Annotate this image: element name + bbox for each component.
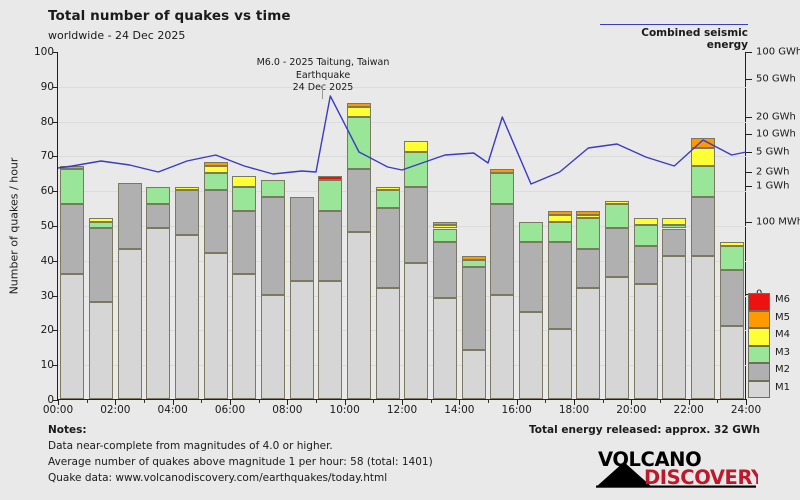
y-axis-tick-label: 50	[41, 220, 54, 232]
x-axis-tick	[316, 399, 317, 403]
y-axis-tick-label: 30	[41, 290, 54, 302]
legend-swatch	[748, 328, 770, 346]
quake-chart: Total number of quakes vs time worldwide…	[0, 0, 800, 500]
x-axis-tick-label: 04:00	[158, 404, 188, 416]
y-axis-tick-label: 20	[41, 324, 54, 336]
logo-text-discovery: DISCOVERY	[644, 466, 758, 489]
legend-swatch	[748, 346, 770, 364]
x-axis-tick-label: 14:00	[444, 404, 474, 416]
right-axis-tick-mark	[746, 186, 752, 187]
legend-label: M5	[775, 312, 790, 323]
right-axis-tick-mark	[746, 52, 752, 53]
legend-item-m2[interactable]: M2	[748, 362, 798, 380]
right-axis-tick-label: 50 GWh	[756, 74, 796, 85]
annotation-pointer-line	[322, 85, 323, 99]
x-axis-tick	[603, 399, 604, 403]
right-axis-tick-mark	[746, 152, 752, 153]
note-average-quakes: Average number of quakes above magnitude…	[48, 456, 433, 468]
x-axis-tick-label: 24:00	[731, 404, 761, 416]
y-axis-tick-label: 80	[41, 116, 54, 128]
legend-item-m5[interactable]: M5	[748, 310, 798, 328]
x-axis-tick	[488, 399, 489, 403]
legend-swatch	[748, 293, 770, 311]
chart-subtitle: worldwide - 24 Dec 2025	[48, 29, 185, 42]
right-axis-tick-mark	[746, 172, 752, 173]
x-axis-tick-label: 10:00	[330, 404, 360, 416]
y-axis-tick-label: 40	[41, 255, 54, 267]
y-axis-label: Number of quakes / hour	[8, 158, 21, 295]
legend-label: M6	[775, 294, 790, 305]
x-axis-tick	[201, 399, 202, 403]
y-axis-tick-label: 90	[41, 81, 54, 93]
legend-item-m6[interactable]: M6	[748, 292, 798, 310]
right-axis-tick-label: 2 GWh	[756, 167, 790, 178]
right-axis-tick-mark	[746, 222, 752, 223]
right-axis-tick-mark	[746, 79, 752, 80]
notes-heading: Notes:	[48, 424, 87, 436]
y-axis-tick-label: 10	[41, 359, 54, 371]
page-title: Total number of quakes vs time	[48, 8, 291, 24]
energy-legend-line-sample	[600, 24, 748, 25]
legend-swatch	[748, 363, 770, 381]
x-axis-tick	[373, 399, 374, 403]
right-axis-tick-label: 10 GWh	[756, 129, 796, 140]
legend-item-m3[interactable]: M3	[748, 345, 798, 363]
note-data-source: Quake data: www.volcanodiscovery.com/ear…	[48, 472, 387, 484]
energy-line-chart	[58, 52, 746, 400]
magnitude-legend: M6M5M4M3M2M1	[748, 292, 798, 397]
x-axis-tick	[431, 399, 432, 403]
x-axis-tick-label: 20:00	[616, 404, 646, 416]
x-axis-tick	[717, 399, 718, 403]
right-axis-tick-label: 100 MWh	[756, 217, 800, 228]
x-axis-tick-label: 16:00	[502, 404, 532, 416]
x-axis-tick-label: 18:00	[559, 404, 589, 416]
x-axis-tick	[660, 399, 661, 403]
earthquake-annotation: M6.0 - 2025 Taitung, Taiwan Earthquake 2…	[228, 57, 418, 95]
annotation-line-1: M6.0 - 2025 Taitung, Taiwan Earthquake	[228, 57, 418, 82]
x-axis-tick	[87, 399, 88, 403]
legend-item-m4[interactable]: M4	[748, 327, 798, 345]
x-axis-tick-label: 22:00	[674, 404, 704, 416]
x-axis-tick-label: 02:00	[100, 404, 130, 416]
note-data-completeness: Data near-complete from magnitudes of 4.…	[48, 440, 333, 452]
x-axis-tick	[144, 399, 145, 403]
x-axis-tick	[545, 399, 546, 403]
legend-item-m1[interactable]: M1	[748, 380, 798, 398]
right-axis-tick-label: 1 GWh	[756, 181, 790, 192]
y-axis-tick-label: 60	[41, 185, 54, 197]
right-axis-tick-label: 100 GWh	[756, 47, 800, 58]
energy-line	[58, 96, 746, 184]
y-axis-tick-label: 70	[41, 150, 54, 162]
plot-area: Number of quakes / hour 0102030405060708…	[57, 52, 745, 400]
y-axis-tick-label: 100	[34, 46, 54, 58]
legend-label: M1	[775, 382, 790, 393]
x-axis-tick	[259, 399, 260, 403]
legend-swatch	[748, 311, 770, 329]
legend-swatch	[748, 381, 770, 399]
x-axis-tick-label: 08:00	[272, 404, 302, 416]
x-axis-tick-label: 12:00	[387, 404, 417, 416]
legend-label: M2	[775, 364, 790, 375]
right-axis-tick-mark	[746, 134, 752, 135]
annotation-line-2: 24 Dec 2025	[228, 82, 418, 95]
legend-label: M3	[775, 347, 790, 358]
right-axis-tick-label: 5 GWh	[756, 147, 790, 158]
volcanodiscovery-logo: VOLCANO DISCOVERY	[588, 446, 758, 490]
right-axis-tick-mark	[746, 117, 752, 118]
legend-label: M4	[775, 329, 790, 340]
right-axis-tick-label: 20 GWh	[756, 112, 796, 123]
energy-legend-label: Combined seismic energy	[600, 27, 748, 51]
x-axis-tick-label: 06:00	[215, 404, 245, 416]
x-axis-tick-label: 00:00	[43, 404, 73, 416]
total-energy-released: Total energy released: approx. 32 GWh	[440, 424, 760, 436]
